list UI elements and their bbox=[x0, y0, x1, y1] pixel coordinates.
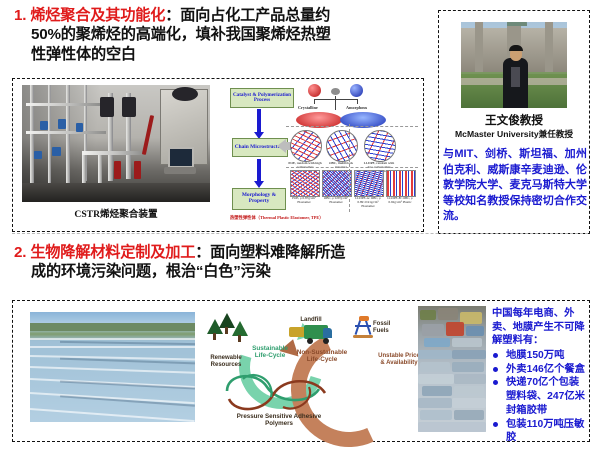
chain-circle-obc bbox=[326, 130, 358, 162]
schematic-connector-m bbox=[335, 96, 336, 110]
monomer-red-icon bbox=[308, 84, 321, 97]
professor-description: 与MIT、剑桥、斯坦福、加州伯克利、威斯康辛麦迪逊、伦敦学院大学、麦克马斯特大学… bbox=[443, 147, 587, 225]
section1-heading: 1. 烯烃聚合及其功能化：面向占化工产品总量约 50%的聚烯烃的高端化，填补我国… bbox=[14, 6, 444, 64]
mulch-film-field-photo bbox=[30, 312, 195, 422]
monomer-grey-icon bbox=[331, 88, 340, 95]
list-item: 外卖146亿个餐盒 bbox=[492, 363, 588, 377]
section2-title-red: 生物降解材料定制及加工 bbox=[30, 244, 195, 261]
morphology-tile-2 bbox=[322, 170, 352, 197]
label-landfill: Landfill bbox=[291, 317, 331, 324]
label-nonsustainable-lifecycle: Non-Sustainable Life-Cycle bbox=[293, 349, 351, 364]
plastic-stats-list: 中国每年电商、外卖、地膜产生不可降解塑料有： 地膜150万吨 外卖146亿个餐盒… bbox=[492, 307, 588, 445]
morphology-caption-1: POE, ρ 0.87g/cm³ Elastomer bbox=[289, 197, 319, 205]
label-sustainable-lifecycle: Sustainable Life-Cycle bbox=[245, 345, 295, 360]
schematic-vertical-divider bbox=[349, 124, 350, 212]
label-renewable-resources: Renewable Resources bbox=[203, 355, 249, 369]
schematic-arrow-2 bbox=[257, 159, 261, 182]
psa-polymer-chain-icon bbox=[223, 367, 335, 415]
section2-title-rest: ：面向塑料难降解所造 bbox=[195, 244, 345, 261]
schematic-box-catalyst: Catalyst & Polymerization Process bbox=[230, 88, 294, 108]
morphology-tile-3 bbox=[354, 170, 384, 197]
label-crystalline: Crystalline bbox=[298, 105, 318, 110]
label-psa-polymers: Pressure Sensitive Adhesive Polymers bbox=[227, 413, 331, 427]
morphology-caption-2: OBC, ρ 0.87g/cm³ Elastomer bbox=[321, 197, 351, 205]
chain-circle-poe bbox=[290, 130, 322, 162]
professor-name: 王文俊教授 bbox=[441, 112, 587, 128]
monomer-blue-icon bbox=[350, 84, 363, 97]
plastic-stats-lead: 中国每年电商、外卖、地膜产生不可降解塑料有： bbox=[492, 307, 588, 348]
schematic-divider-1 bbox=[286, 126, 418, 127]
section1-title-line3: 性弹性体的空白 bbox=[14, 45, 444, 64]
schematic-divider-2 bbox=[286, 167, 418, 168]
section1-number: 1. bbox=[14, 7, 26, 24]
tpe-footnote: 热塑性弹性体（Thermal Plastic Elastomer, TPE） bbox=[230, 215, 324, 221]
label-unstable-price: Unstable Price & Availability bbox=[377, 353, 421, 367]
morphology-caption-3: LLDPE-A: OBC, ρ 0.89~0.91g/cm³ Elastomer bbox=[353, 197, 383, 209]
chain-circle-lldpe bbox=[364, 130, 396, 162]
list-item: 地膜150万吨 bbox=[492, 349, 588, 363]
schematic-connector-h bbox=[314, 99, 358, 100]
list-item: 包装110万吨压敏胶 bbox=[492, 418, 588, 445]
section1-title-rest: ：面向占化工产品总量约 bbox=[165, 7, 330, 24]
polymer-schematic: Catalyst & Polymerization Process Chain … bbox=[228, 84, 418, 226]
cstr-reactor-photo bbox=[22, 85, 210, 202]
section1-title-red: 烯烃聚合及其功能化 bbox=[30, 7, 165, 24]
morphology-tile-4 bbox=[386, 170, 416, 197]
lifecycle-schematic: Renewable Resources Sustainable Life-Cyc… bbox=[205, 305, 420, 435]
schematic-box-morphology: Morphology & Property bbox=[232, 188, 286, 210]
section2-number: 2. bbox=[14, 244, 26, 261]
professor-affiliation: McMaster University兼任教授 bbox=[441, 128, 587, 140]
plastic-waste-photo bbox=[418, 306, 486, 432]
schematic-connector-l bbox=[314, 99, 315, 104]
morphology-caption-4: LLDPE-B: OBC, ρ 0.92g/cm³ Plastic bbox=[385, 197, 415, 205]
schematic-arrow-1 bbox=[257, 109, 261, 133]
list-item: 快递70亿个包装塑料袋、247亿米封箱胶带 bbox=[492, 376, 588, 417]
section-separator bbox=[12, 233, 588, 234]
slide-root: 1. 烯烃聚合及其功能化：面向占化工产品总量约 50%的聚烯烃的高端化，填补我国… bbox=[0, 0, 600, 450]
label-fossil-fuels: Fossil Fuels bbox=[373, 321, 407, 335]
section1-title-line2: 50%的聚烯烃的高端化，填补我国聚烯烃热塑 bbox=[14, 25, 444, 44]
schematic-connector-r bbox=[357, 99, 358, 104]
plastic-stats-items: 地膜150万吨 外卖146亿个餐盒 快递70亿个包装塑料袋、247亿米封箱胶带 … bbox=[492, 349, 588, 445]
label-amorphous: Amorphous bbox=[346, 105, 367, 110]
professor-photo bbox=[461, 22, 567, 108]
section2-heading: 2. 生物降解材料定制及加工：面向塑料难降解所造 成的环境污染问题，根治“白色”… bbox=[14, 243, 454, 282]
section2-title-line2: 成的环境污染问题，根治“白色”污染 bbox=[14, 262, 454, 281]
morphology-tile-1 bbox=[290, 170, 320, 197]
cstr-photo-caption: CSTR烯烃聚合装置 bbox=[22, 206, 210, 220]
